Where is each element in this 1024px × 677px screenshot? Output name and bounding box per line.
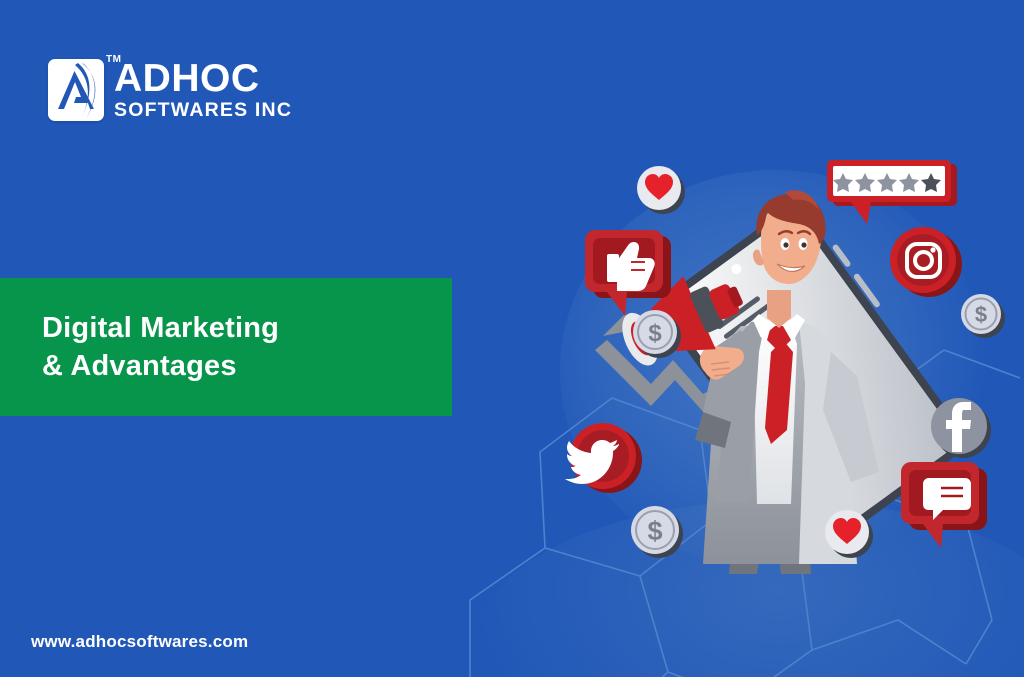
digital-marketing-illustration: $ $ $ [545, 140, 1015, 580]
star-rating-bubble [827, 160, 957, 224]
trademark-symbol: TM [106, 54, 121, 65]
logo-company-subtitle: SOFTWARES INC [114, 97, 292, 122]
headline-line-1: Digital Marketing [42, 312, 279, 344]
page-title: Digital Marketing & Advantages [0, 309, 279, 386]
headline-banner: Digital Marketing & Advantages [0, 278, 452, 416]
twitter-icon [565, 423, 642, 493]
svg-text:$: $ [647, 516, 662, 546]
adhoc-a-swoosh-icon [48, 59, 104, 121]
website-url[interactable]: www.adhocsoftwares.com [31, 632, 248, 652]
chat-bubble-icon [901, 462, 987, 548]
svg-text:$: $ [648, 320, 662, 347]
dollar-coin-right: $ [961, 294, 1005, 338]
company-logo[interactable]: TM ADHOC SOFTWARES INC [48, 58, 292, 123]
heart-icon-top [637, 166, 685, 214]
marketing-banner: TM ADHOC SOFTWARES INC Digital Marketing… [0, 0, 1024, 677]
svg-text:$: $ [975, 302, 987, 327]
instagram-icon [890, 227, 962, 297]
dollar-coin-left: $ [631, 506, 683, 558]
headline-line-2: & Advantages [42, 350, 237, 382]
logo-company-name: ADHOC [114, 60, 292, 97]
logo-wordmark: TM ADHOC SOFTWARES INC [114, 58, 292, 123]
